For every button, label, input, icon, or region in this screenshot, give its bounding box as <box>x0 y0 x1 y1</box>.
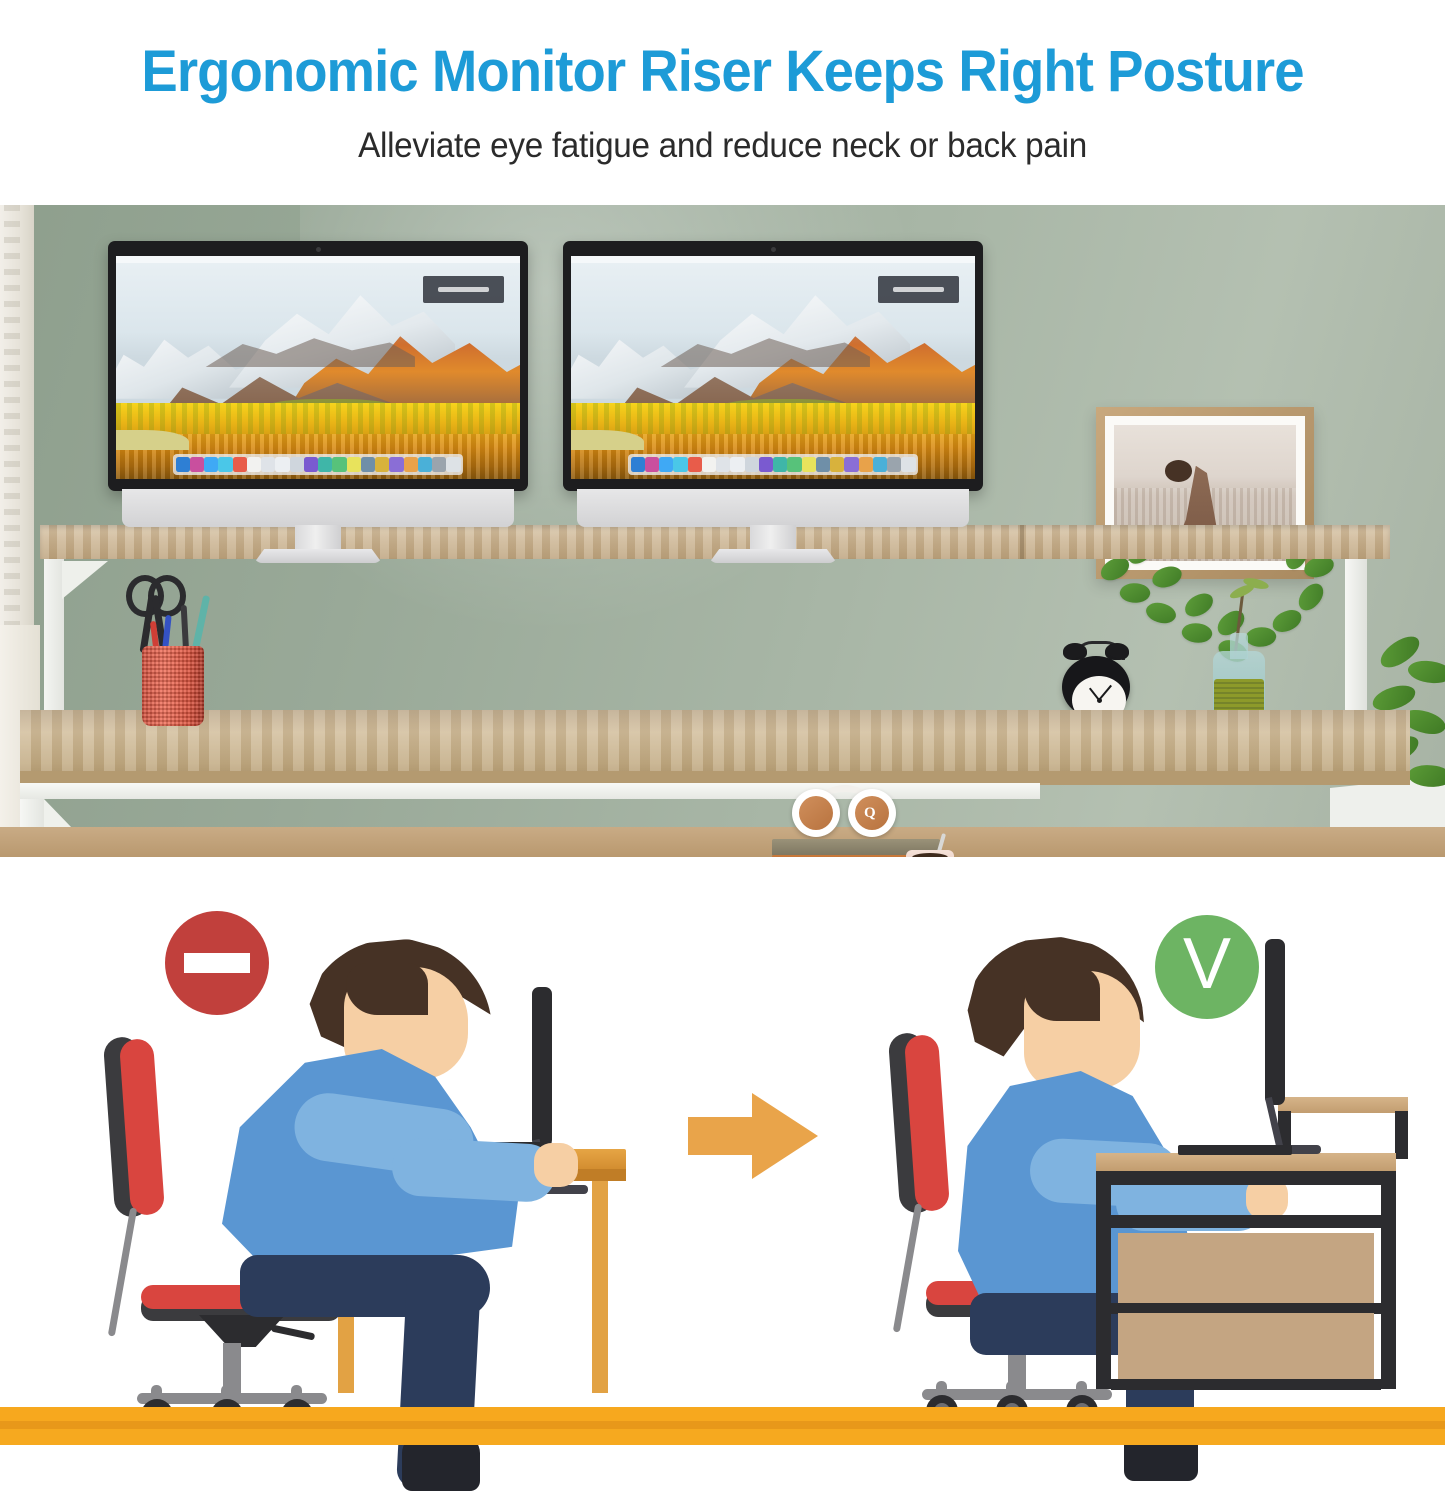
page-title: Ergonomic Monitor Riser Keeps Right Post… <box>43 42 1401 102</box>
monitor-screen <box>116 256 520 479</box>
clock-body <box>1062 656 1130 718</box>
drawer-upper[interactable] <box>1118 1233 1374 1303</box>
monitor-right <box>563 241 983 563</box>
keyboard-right <box>1178 1145 1292 1155</box>
mountain-lake-wallpaper <box>571 256 975 479</box>
monitor-chin <box>577 489 969 527</box>
menu-bar <box>116 256 520 263</box>
coffee-cup <box>906 850 954 857</box>
desk-bottom-rail <box>1111 1379 1381 1390</box>
chair-back-post <box>893 1203 922 1332</box>
desk-with-monitor-riser <box>1096 1097 1408 1397</box>
forearm <box>391 1137 558 1204</box>
desk-leg-right <box>1381 1171 1396 1389</box>
desk-leg-left <box>1096 1171 1111 1389</box>
webcam-icon <box>316 247 321 252</box>
floor-strip <box>0 1407 1445 1445</box>
desk-surface <box>1096 1153 1396 1171</box>
clock-center-pin <box>1097 698 1102 703</box>
riser-shelf-seam <box>1020 525 1024 559</box>
hair-front-lock <box>346 963 428 1015</box>
desk-upper-rail <box>1111 1215 1381 1228</box>
hair-front-lock <box>1024 967 1100 1021</box>
notification-popup <box>878 276 959 303</box>
webcam-icon <box>771 247 776 252</box>
hand <box>534 1143 578 1187</box>
menu-bar <box>571 256 975 263</box>
posture-comparison-illustration: V <box>0 857 1445 1445</box>
monitor-left <box>108 241 528 563</box>
monitor-bezel <box>108 241 528 491</box>
monitor-stand-foot <box>709 549 837 563</box>
headphone-earcup-left <box>792 789 840 837</box>
chair-back-post <box>108 1207 137 1336</box>
product-photo: Q THRIFT EPSON L355 <box>0 205 1445 857</box>
notification-popup <box>423 276 504 303</box>
mountain-lake-wallpaper <box>116 256 520 479</box>
macos-dock[interactable] <box>173 454 464 474</box>
monitor-screen <box>571 256 975 479</box>
room-floor <box>0 827 1445 857</box>
arrow-head <box>752 1093 818 1179</box>
curtain-left <box>0 205 34 685</box>
riser-leg-right <box>1345 557 1367 727</box>
print-figure-head <box>1165 460 1192 482</box>
riser-leg-left <box>44 557 64 727</box>
red-mesh-pen-cup <box>142 646 204 726</box>
monitor-chin <box>122 489 514 527</box>
over-ear-headphones: Q <box>792 785 910 843</box>
riser-leg-right <box>1395 1111 1408 1159</box>
monitor-stand-neck <box>750 525 796 551</box>
drawer-lower[interactable] <box>1118 1313 1374 1379</box>
macos-dock[interactable] <box>628 454 919 474</box>
page-subtitle: Alleviate eye fatigue and reduce neck or… <box>36 126 1409 166</box>
scissors <box>120 575 180 653</box>
vase-woven-wrap <box>1214 679 1264 713</box>
product-feature-image: Ergonomic Monitor Riser Keeps Right Post… <box>0 0 1445 1445</box>
headphone-logo: Q <box>864 805 876 822</box>
header-band: Ergonomic Monitor Riser Keeps Right Post… <box>0 0 1445 205</box>
desk-frame-top <box>1096 1171 1396 1185</box>
riser-shelf-surface <box>1278 1097 1408 1113</box>
monitor-stand-neck <box>295 525 341 551</box>
desk-shadow <box>20 710 1410 732</box>
monitor-panel <box>1265 939 1285 1105</box>
right-arrow-icon <box>688 1093 818 1179</box>
monitor-bezel <box>563 241 983 491</box>
hunched-person <box>196 939 616 1399</box>
monitor-stand-foot <box>254 549 382 563</box>
